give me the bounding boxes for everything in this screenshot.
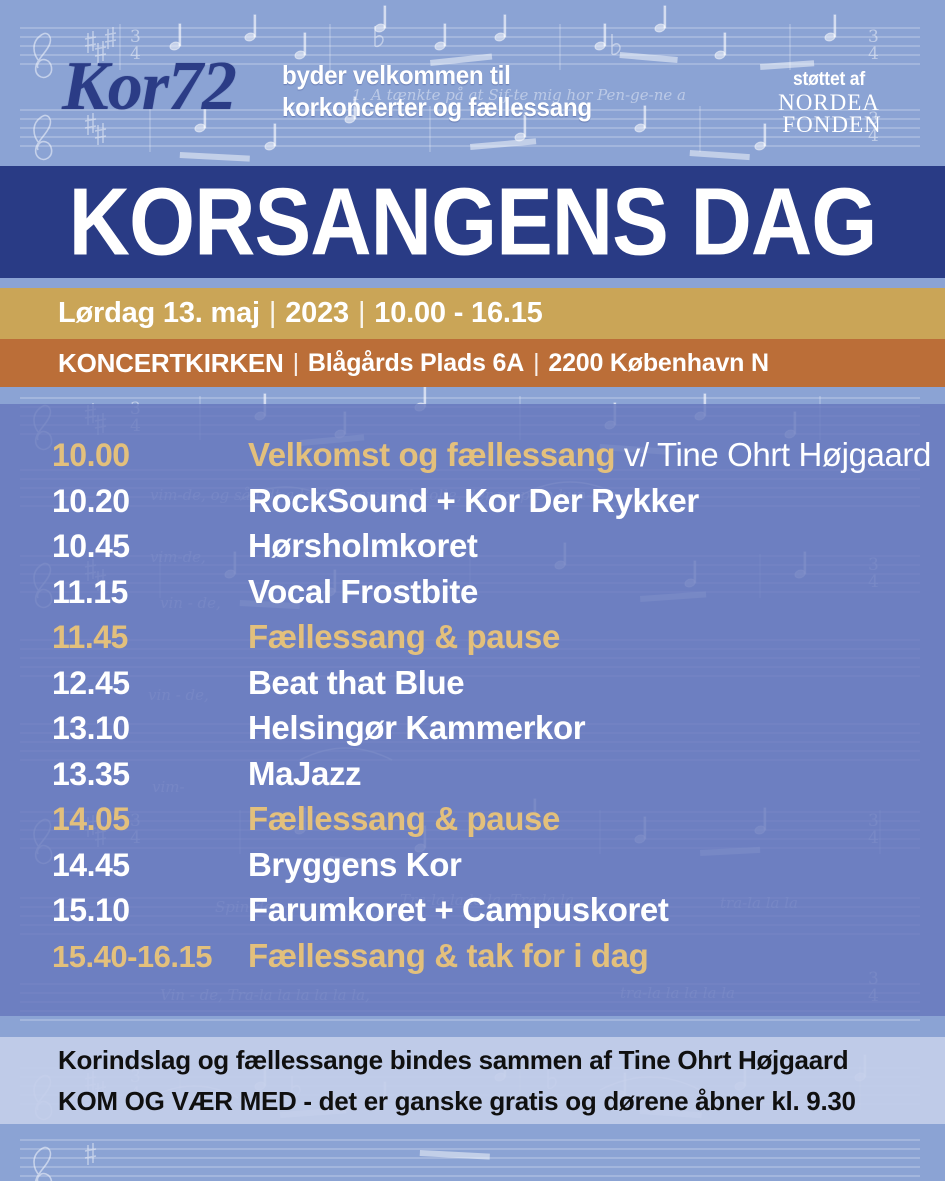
schedule-row-title: Fællessang & pause — [248, 800, 560, 838]
sponsor-block: støttet af NORDEA FONDEN — [749, 70, 909, 136]
event-weekday-date: Lørdag 13. maj — [58, 297, 260, 330]
footer-line-1: Korindslag og fællessange bindes sammen … — [58, 1040, 945, 1080]
poster-title: KORSANGENS DAG — [0, 166, 945, 278]
schedule-row-time: 12.45 — [52, 665, 248, 702]
poster-header: Kor72 byder velkommen til korkoncerter o… — [0, 0, 945, 166]
schedule-row-time: 11.15 — [52, 574, 248, 611]
schedule-row-time: 13.35 — [52, 756, 248, 793]
schedule-row-title: Beat that Blue — [248, 664, 464, 702]
poster-content: Kor72 byder velkommen til korkoncerter o… — [0, 0, 945, 1181]
schedule-row-title: Fællessang & tak for i dag — [248, 937, 648, 975]
schedule-row-title: Fællessang & pause — [248, 618, 560, 656]
venue-name: KONCERTKIRKEN — [58, 348, 284, 379]
header-tagline: byder velkommen til korkoncerter og fæll… — [282, 60, 592, 123]
poster-footer: Korindslag og fællessange bindes sammen … — [0, 1037, 945, 1124]
sponsor-label: støttet af — [755, 70, 902, 91]
schedule-row: 14.05Fællessang & pause — [0, 800, 945, 846]
schedule-row: 11.15Vocal Frostbite — [0, 573, 945, 619]
schedule-row: 13.10Helsingør Kammerkor — [0, 709, 945, 755]
event-year: 2023 — [285, 297, 349, 330]
schedule-row: 14.45Bryggens Kor — [0, 846, 945, 892]
schedule-row-time: 14.05 — [52, 801, 248, 838]
sponsor-name-line-2: FONDEN — [755, 114, 909, 136]
date-separator-1: | — [260, 297, 285, 330]
schedule-row-time: 15.40-16.15 — [52, 939, 248, 975]
schedule-row-title: Hørsholmkoret — [248, 527, 478, 565]
schedule-row-time: 11.45 — [52, 619, 248, 656]
schedule-row-title: Helsingør Kammerkor — [248, 709, 585, 747]
event-time-range: 10.00 - 16.15 — [374, 297, 542, 330]
schedule-row-title-text: Vocal Frostbite — [248, 573, 478, 610]
sponsor-name-line-1: NORDEA — [778, 90, 880, 115]
schedule-row: 15.10Farumkoret + Campuskoret — [0, 891, 945, 937]
date-separator-2: | — [349, 297, 374, 330]
schedule-row-time: 10.00 — [52, 437, 248, 474]
schedule-row-title: Farumkoret + Campuskoret — [248, 891, 668, 929]
schedule-row-title-text: Velkomst og fællessang — [248, 436, 615, 473]
tagline-line-2: korkoncerter og fællessang — [282, 92, 592, 124]
poster: 3 4 — [0, 0, 945, 1181]
schedule-row-title-text: Fællessang & tak for i dag — [248, 937, 648, 974]
schedule-row-title: Velkomst og fællessang v/ Tine Ohrt Højg… — [248, 436, 931, 474]
schedule-row-title: MaJazz — [248, 755, 361, 793]
venue-separator-1: | — [284, 349, 308, 378]
event-venue-row: KONCERTKIRKEN | Blågårds Plads 6A | 2200… — [0, 339, 945, 387]
schedule-row-title-text: Beat that Blue — [248, 664, 464, 701]
schedule-row: 15.40-16.15Fællessang & tak for i dag — [0, 937, 945, 983]
schedule-row: 12.45Beat that Blue — [0, 664, 945, 710]
schedule-row-title-text: RockSound + Kor Der Rykker — [248, 482, 699, 519]
footer-line-2: KOM OG VÆR MED - det er ganske gratis og… — [58, 1081, 945, 1121]
schedule-row-host: v/ Tine Ohrt Højgaard — [615, 436, 931, 473]
schedule-row-time: 10.20 — [52, 483, 248, 520]
venue-address: Blågårds Plads 6A — [308, 349, 524, 378]
schedule-list: 10.00Velkomst og fællessang v/ Tine Ohrt… — [0, 436, 945, 982]
event-date-row: Lørdag 13. maj | 2023 | 10.00 - 16.15 — [0, 288, 945, 339]
nordea-fonden-logo: NORDEA FONDEN — [749, 92, 909, 137]
schedule-row: 10.20RockSound + Kor Der Rykker — [0, 482, 945, 528]
schedule-row-title: Bryggens Kor — [248, 846, 461, 884]
schedule-row-title-text: Farumkoret + Campuskoret — [248, 891, 668, 928]
schedule-row-title-text: Hørsholmkoret — [248, 527, 478, 564]
schedule-row-time: 14.45 — [52, 847, 248, 884]
schedule-row: 10.00Velkomst og fællessang v/ Tine Ohrt… — [0, 436, 945, 482]
schedule-row: 11.45Fællessang & pause — [0, 618, 945, 664]
schedule-row-time: 15.10 — [52, 892, 248, 929]
venue-postal-city: 2200 København N — [548, 349, 768, 378]
schedule-row-title-text: Helsingør Kammerkor — [248, 709, 585, 746]
poster-title-text: KORSANGENS DAG — [69, 174, 877, 269]
schedule-row: 13.35MaJazz — [0, 755, 945, 801]
schedule-row: 10.45Hørsholmkoret — [0, 527, 945, 573]
schedule-row-time: 13.10 — [52, 710, 248, 747]
schedule-row-title: Vocal Frostbite — [248, 573, 478, 611]
schedule-row-title: RockSound + Kor Der Rykker — [248, 482, 699, 520]
schedule-row-title-text: Bryggens Kor — [248, 846, 461, 883]
schedule-row-title-text: Fællessang & pause — [248, 618, 560, 655]
venue-separator-2: | — [524, 349, 548, 378]
kor72-logo: Kor72 — [62, 52, 236, 122]
schedule-row-title-text: MaJazz — [248, 755, 361, 792]
schedule-row-title-text: Fællessang & pause — [248, 800, 560, 837]
tagline-line-1: byder velkommen til — [282, 60, 592, 92]
schedule-row-time: 10.45 — [52, 528, 248, 565]
